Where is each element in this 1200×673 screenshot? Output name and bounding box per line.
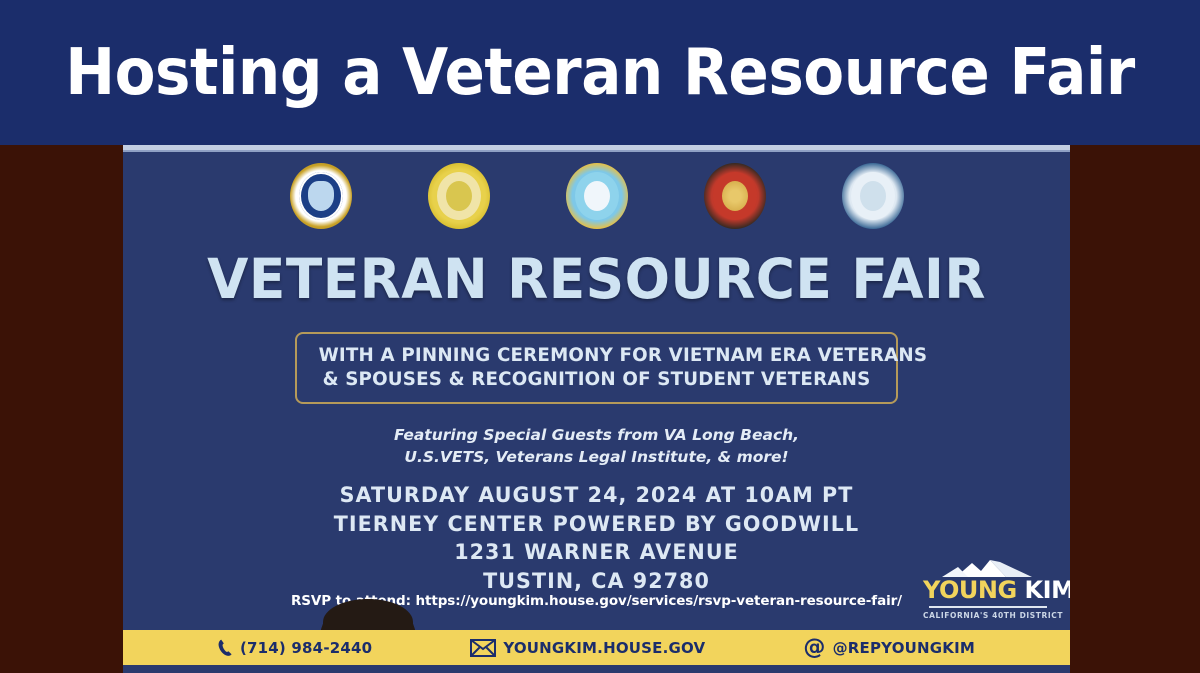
phone-icon — [218, 639, 233, 656]
logo-first-name: YOUNG — [923, 576, 1017, 604]
event-venue: TIERNEY CENTER POWERED BY GOODWILL — [142, 511, 1051, 540]
page-title: Hosting a Veteran Resource Fair — [65, 41, 1134, 105]
flyer-heading: VETERAN RESOURCE FAIR — [137, 252, 1056, 307]
contact-phone-label: (714) 984-2440 — [240, 639, 372, 657]
logo-tagline: CALIFORNIA'S 40TH DISTRICT — [923, 611, 1053, 620]
pinning-ceremony-box: WITH A PINNING CEREMONY FOR VIETNAM ERA … — [295, 332, 898, 404]
mountain-icon — [928, 558, 1048, 577]
logo-name: YOUNG KIM — [923, 578, 1053, 603]
pinning-ceremony-line-2: & SPOUSES & RECOGNITION OF STUDENT VETER… — [319, 367, 875, 391]
contact-social[interactable]: @ @REPYOUNGKIM — [803, 637, 975, 659]
army-seal — [428, 163, 490, 229]
flyer-panel: VETERAN RESOURCE FAIR WITH A PINNING CER… — [123, 145, 1070, 673]
logo-divider — [929, 606, 1047, 608]
contact-website[interactable]: YOUNGKIM.HOUSE.GOV — [470, 639, 705, 657]
contact-website-label: YOUNGKIM.HOUSE.GOV — [503, 639, 705, 657]
contact-bar: (714) 984-2440 YOUNGKIM.HOUSE.GOV @ @REP… — [123, 630, 1070, 665]
air-force-seal — [290, 163, 352, 229]
event-street-address: 1231 WARNER AVENUE — [142, 539, 1051, 568]
featuring-line-1: Featuring Special Guests from VA Long Be… — [123, 424, 1070, 446]
envelope-icon — [470, 639, 496, 657]
flyer-page: Hosting a Veteran Resource Fair — [0, 0, 1200, 673]
featuring-line-2: U.S.VETS, Veterans Legal Institute, & mo… — [123, 446, 1070, 468]
featuring-guests: Featuring Special Guests from VA Long Be… — [123, 424, 1070, 469]
logo-last-name: KIM — [1017, 576, 1070, 604]
pinning-ceremony-line-1: WITH A PINNING CEREMONY FOR VIETNAM ERA … — [319, 343, 875, 367]
coast-guard-seal — [566, 163, 628, 229]
page-header: Hosting a Veteran Resource Fair — [0, 0, 1200, 145]
young-kim-logo: YOUNG KIM CALIFORNIA'S 40TH DISTRICT — [923, 558, 1053, 620]
at-sign-icon: @ — [803, 637, 825, 659]
event-date-time: SATURDAY AUGUST 24, 2024 AT 10AM PT — [142, 482, 1051, 511]
marine-corps-seal — [704, 163, 766, 229]
contact-social-label: @REPYOUNGKIM — [833, 639, 975, 657]
flyer-top-divider-secondary — [123, 150, 1070, 152]
contact-phone[interactable]: (714) 984-2440 — [218, 639, 372, 657]
navy-seal — [842, 163, 904, 229]
contact-bar-bottom-edge — [123, 665, 1070, 673]
military-seal-row — [123, 163, 1070, 229]
